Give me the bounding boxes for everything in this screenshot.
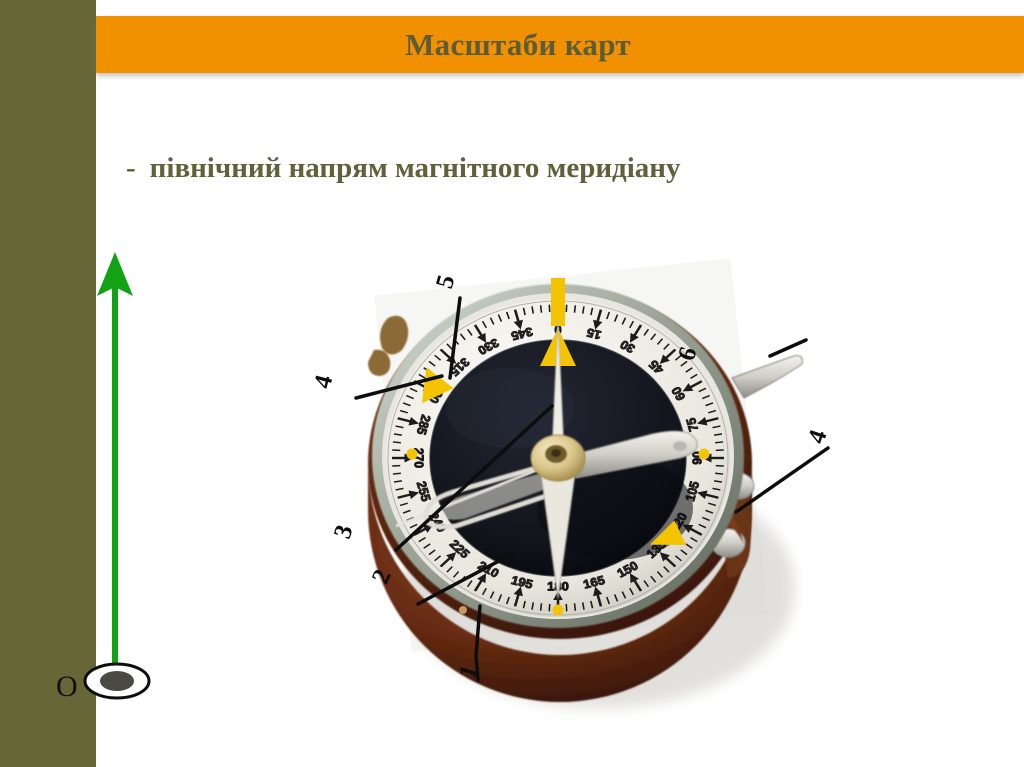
bullet-dash: - [126,152,136,185]
origin-label: О [56,670,78,704]
slide-canvas: Масштаби карт -північний напрям магнітно… [0,0,1024,767]
station-point-ellipse-icon [82,660,152,702]
bullet-line: -північний напрям магнітного меридіану [126,152,946,185]
adrianov-compass-graphic: 0153045607590105120135150165180195210225… [300,258,880,728]
title-band: Масштаби карт [96,16,1024,73]
page-title: Масштаби карт [54,16,982,73]
compass-illustration: 0153045607590105120135150165180195210225… [300,258,880,728]
bullet-text: північний напрям магнітного меридіану [150,152,681,184]
north-direction-arrow-icon [82,248,172,698]
north-arrow-group [82,248,172,698]
